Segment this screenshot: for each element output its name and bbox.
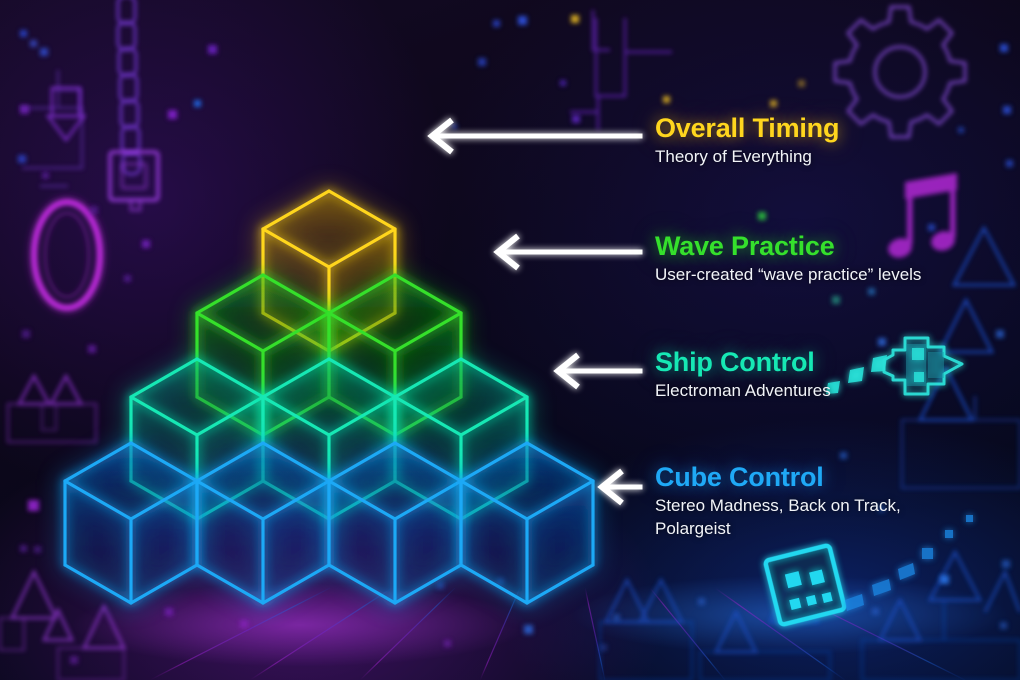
cube-player-icon [765, 545, 845, 625]
entry-subtitle-wave-practice: User-created “wave practice” levels [655, 264, 1005, 286]
entry-title-ship-control: Ship Control [655, 348, 1005, 376]
infographic-canvas: Overall Timing Theory of Everything Wave… [0, 0, 1020, 680]
legend-entry-wave-practice: Wave Practice User-created “wave practic… [655, 232, 1005, 287]
entry-subtitle-overall-timing: Theory of Everything [655, 146, 1005, 168]
foreground-art [0, 0, 1020, 680]
entry-title-cube-control: Cube Control [655, 463, 1005, 491]
entry-subtitle-cube-control: Stereo Madness, Back on Track, Polargeis… [655, 495, 950, 540]
legend-entry-ship-control: Ship Control Electroman Adventures [655, 348, 1005, 403]
legend-entry-cube-control: Cube Control Stereo Madness, Back on Tra… [655, 463, 1005, 540]
entry-subtitle-ship-control: Electroman Adventures [655, 380, 1005, 402]
entry-title-overall-timing: Overall Timing [655, 114, 1005, 142]
entry-title-wave-practice: Wave Practice [655, 232, 1005, 260]
legend-entry-overall-timing: Overall Timing Theory of Everything [655, 114, 1005, 169]
